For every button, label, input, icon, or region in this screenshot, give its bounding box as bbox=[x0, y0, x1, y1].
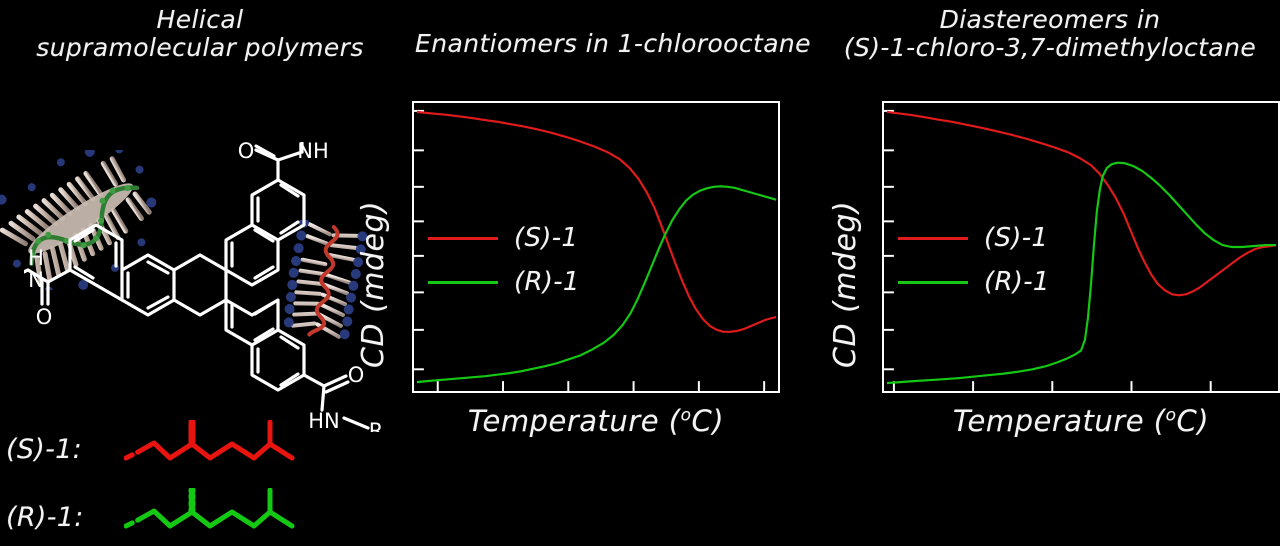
legend-swatch-s-1 bbox=[898, 237, 968, 240]
molecular-structure-triphenylene-tricarboxamide: O NH R H N R O O HN R bbox=[24, 142, 384, 432]
y-axis-ticks bbox=[884, 111, 894, 369]
legend-swatch-r-1 bbox=[428, 281, 498, 284]
x-axis-ticks bbox=[894, 381, 1211, 391]
atom-label-N-left: N bbox=[28, 268, 44, 292]
chart-legend-middle: (S)-1 (R)-1 bbox=[428, 216, 580, 304]
x-axis-label-middle: Temperature (oC) bbox=[398, 404, 794, 438]
enantiomer-row-s: (S)-1: bbox=[6, 420, 314, 478]
atom-label-O-left: O bbox=[36, 305, 53, 329]
atom-label-R-bottom: R bbox=[369, 419, 384, 432]
legend-label-r-1: (R)-1 bbox=[984, 267, 1050, 297]
panel-title-right: Diastereomers in (S)-1-chloro-3,7-dimeth… bbox=[820, 6, 1280, 62]
legend-label-s-1: (S)-1 bbox=[984, 223, 1048, 253]
atom-label-H-left: H bbox=[28, 246, 44, 270]
legend-item-r-1: (R)-1 bbox=[898, 260, 1050, 304]
legend-item-s-1: (S)-1 bbox=[898, 216, 1050, 260]
y-axis-ticks bbox=[414, 111, 424, 369]
panel-title-middle: Enantiomers in 1-chlorooctane bbox=[388, 30, 838, 58]
panel-title-left: Helical supramolecular polymers bbox=[0, 6, 400, 62]
legend-label-r-1: (R)-1 bbox=[514, 267, 580, 297]
panel-left-structures: O NH R H N R O O HN R (S)-1: bbox=[0, 70, 392, 480]
chart-legend-right: (S)-1 (R)-1 bbox=[898, 216, 1050, 304]
figure-canvas: Helical supramolecular polymers Enantiom… bbox=[0, 0, 1280, 480]
enantiomer-label-r: (R)-1: bbox=[6, 502, 124, 533]
legend-swatch-s-1 bbox=[428, 237, 498, 240]
s-enantiomer-chain-structure bbox=[124, 420, 314, 478]
y-axis-label-middle: CD (mdeg) bbox=[356, 201, 391, 368]
legend-item-s-1: (S)-1 bbox=[428, 216, 580, 260]
r-enantiomer-chain-structure bbox=[124, 488, 314, 546]
legend-label-s-1: (S)-1 bbox=[514, 223, 578, 253]
enantiomer-row-r: (R)-1: bbox=[6, 488, 314, 546]
atom-label-O-top: O bbox=[238, 142, 255, 163]
x-axis-ticks bbox=[438, 381, 764, 391]
y-axis-label-right: CD (mdeg) bbox=[828, 201, 863, 368]
legend-swatch-r-1 bbox=[898, 281, 968, 284]
enantiomer-label-s: (S)-1: bbox=[6, 434, 124, 465]
atom-label-NH-top: NH bbox=[297, 142, 329, 163]
x-axis-label-right: Temperature (oC) bbox=[868, 404, 1280, 438]
legend-item-r-1: (R)-1 bbox=[428, 260, 580, 304]
